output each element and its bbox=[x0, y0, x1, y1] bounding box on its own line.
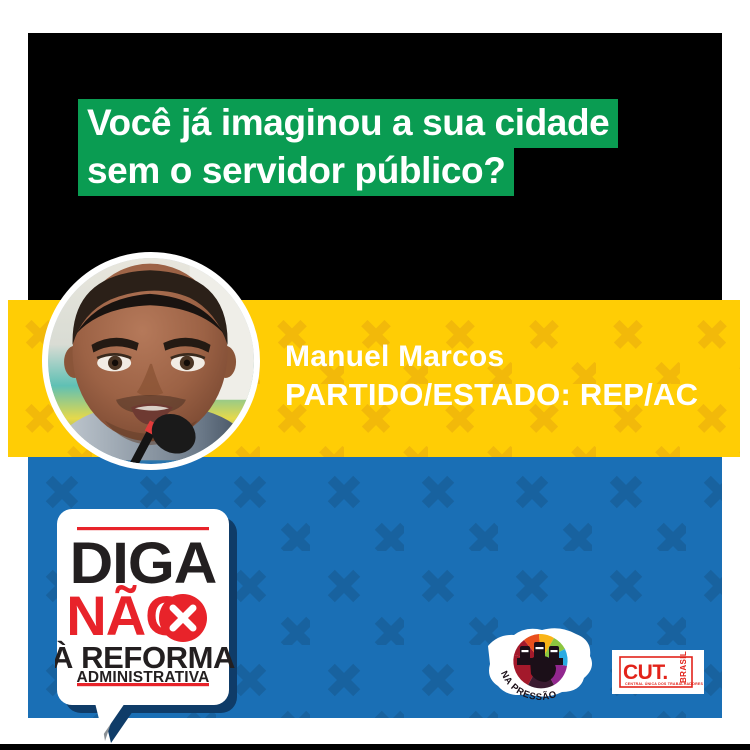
bottom-black-bar bbox=[0, 744, 750, 750]
portrait-photo bbox=[48, 258, 254, 464]
cut-logo: CUT. BRASIL CENTRAL ÚNICA DOS TRABALHADO… bbox=[612, 650, 704, 694]
campaign-poster: Você já imaginou a sua cidade sem o serv… bbox=[0, 0, 750, 750]
avatar bbox=[42, 252, 260, 470]
na-pressao-logo: NA PRESSÃO! bbox=[484, 620, 598, 704]
person-party-state: PARTIDO/ESTADO: REP/AC bbox=[285, 378, 698, 412]
svg-text:ADMINISTRATIVA: ADMINISTRATIVA bbox=[76, 669, 209, 686]
headline-line-1-text: Você já imaginou a sua cidade bbox=[78, 99, 618, 148]
headline-line-1: Você já imaginou a sua cidade bbox=[78, 101, 678, 146]
cut-logo-title: CUT. bbox=[623, 661, 668, 684]
person-info: Manuel Marcos PARTIDO/ESTADO: REP/AC bbox=[285, 340, 698, 412]
headline: Você já imaginou a sua cidade sem o serv… bbox=[78, 101, 678, 197]
person-name: Manuel Marcos bbox=[285, 340, 698, 374]
headline-line-2: sem o servidor público? bbox=[78, 149, 678, 194]
cut-logo-vertical-label: BRASIL bbox=[679, 651, 688, 683]
diga-nao-logo: DIGA NÃO À REFORMA ADMINISTRATIVA bbox=[55, 505, 239, 743]
headline-line-2-text: sem o servidor público? bbox=[78, 147, 514, 196]
cut-logo-tagline: CENTRAL ÚNICA DOS TRABALHADORES bbox=[625, 681, 703, 686]
